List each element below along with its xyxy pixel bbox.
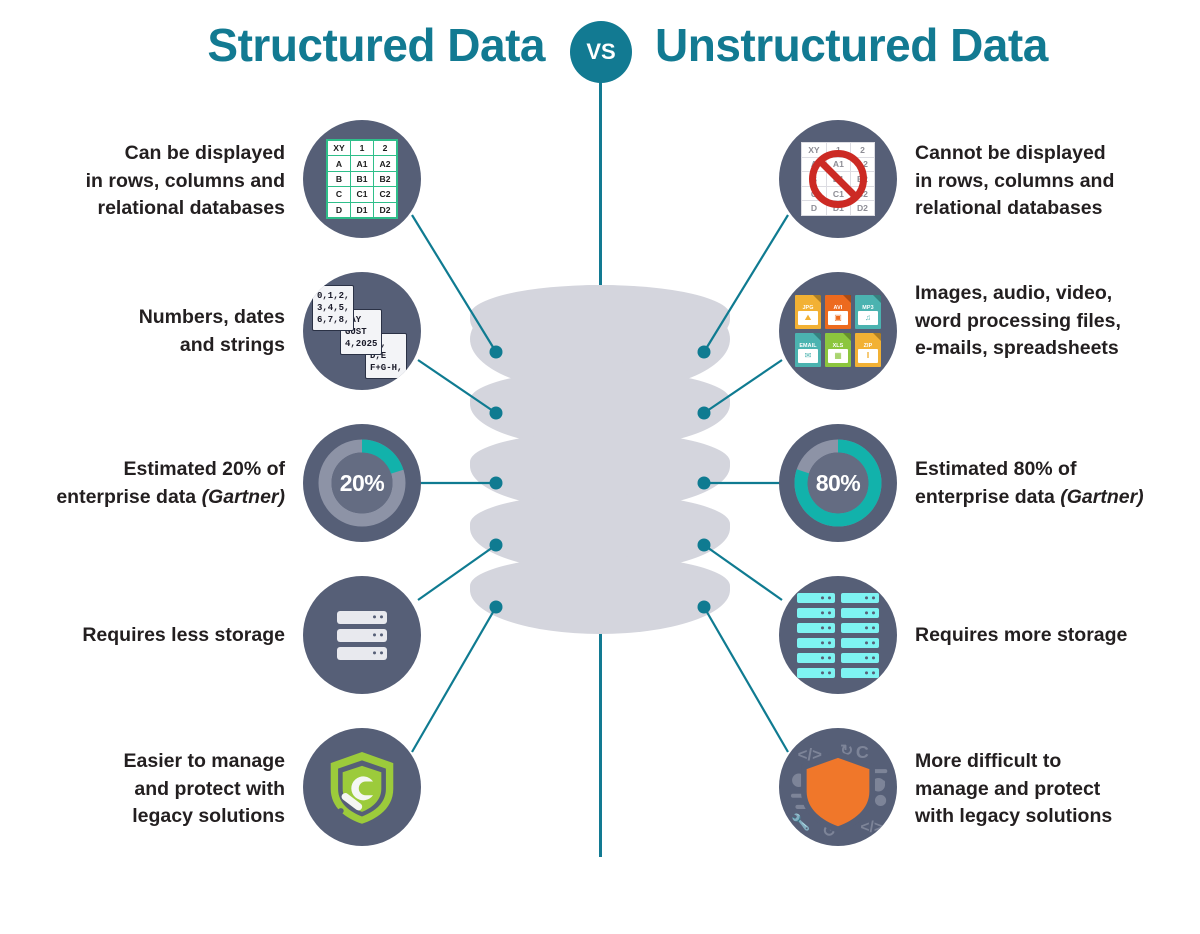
server-bar [841,623,879,633]
table-header-row: XY12 [327,140,397,156]
file-card-zip: ZIP‖ [855,333,881,367]
file-types-icon: JPG⛰AVI▣MP3♫EMAIL✉XLS▦ZIP‖ [779,272,897,390]
server-bar [797,593,835,603]
server-bar [841,608,879,618]
server-led-dot [872,596,875,599]
row-storage: Requires less storage Requires more stor… [0,576,1200,726]
numbers-card: 0,1,2,3,4,5,6,7,8, [312,285,354,331]
table-cell: D2 [374,202,398,218]
file-glyph-icon: ⛰ [798,311,818,325]
structured-table: XY12AA1A2BB1B2CC1C2DD1D2 [326,139,398,219]
svg-text:🔧: 🔧 [791,812,811,831]
file-card-avi: AVI▣ [825,295,851,329]
table-cell: B [327,171,351,186]
file-fold-corner [813,295,821,303]
row-label-right: Requires more storage [915,622,1190,650]
file-glyph-icon: ▣ [828,311,848,325]
server-led-dot [373,651,376,654]
table-grid-blocked-icon: XY12AA1A2BB1B2CC1C2DD1D2 [779,120,897,238]
row-label-left: Estimated 20% ofenterprise data (Gartner… [10,456,285,511]
row-label-right-main: Estimated 80% ofenterprise data [915,458,1076,508]
donut-chart-80-icon: 80% [779,424,897,542]
shield-wrench-icon [303,728,421,846]
server-led-dot [821,656,824,659]
server-bar [841,638,879,648]
file-fold-corner [813,333,821,341]
file-card-mp3: MP3♫ [855,295,881,329]
donut-80-label: 80% [790,435,886,531]
server-bar [841,668,879,678]
shield-code-icon: </> C ↻ </> ↺ 🔧 [779,728,897,846]
server-led-dot [872,671,875,674]
server-led-dot [373,633,376,636]
file-type-grid: JPG⛰AVI▣MP3♫EMAIL✉XLS▦ZIP‖ [795,295,881,367]
table-cell: A2 [374,156,398,171]
file-glyph-icon: ✉ [798,349,818,363]
server-stack-large [797,593,879,678]
row-label-left: Easier to manageand protect withlegacy s… [10,748,285,831]
table-cell: D [327,202,351,218]
table-row: BB1B2 [327,171,397,186]
vs-badge: VS [570,21,632,83]
row-management: Easier to manageand protect withlegacy s… [0,728,1200,878]
server-led-dot [821,596,824,599]
server-bar [841,593,879,603]
table-cell: D1 [351,202,374,218]
file-card-email: EMAIL✉ [795,333,821,367]
row-label-left: Can be displayedin rows, columns andrela… [10,140,285,223]
server-led-dot [865,596,868,599]
shield-wrench-svg [316,741,408,833]
server-led-dot [373,615,376,618]
server-bar [797,608,835,618]
server-bar [337,629,387,642]
server-led-dot [380,615,383,618]
server-led-dot [865,626,868,629]
file-glyph-icon: ♫ [858,311,878,325]
table-header-cell: 2 [374,140,398,156]
server-bar [797,653,835,663]
row-label-right: Images, audio, video,word processing fil… [915,280,1190,363]
server-bar [797,623,835,633]
table-cell: C [327,187,351,202]
server-led-dot [865,611,868,614]
file-card-xls: XLS▦ [825,333,851,367]
shield-code-svg: </> C ↻ </> ↺ 🔧 [782,731,894,843]
server-bar [337,611,387,624]
donut-chart-20-icon: 20% [303,424,421,542]
server-column [841,593,879,678]
server-bar [797,638,835,648]
table-grid-icon: XY12AA1A2BB1B2CC1C2DD1D2 [303,120,421,238]
server-led-dot [872,641,875,644]
data-cards: 0,1,2,3,4,5,6,7,8, DAYGUST4,2025 YZ,D,EF… [310,283,414,379]
server-led-dot [865,671,868,674]
server-led-dot [865,641,868,644]
donut-20-label: 20% [314,435,410,531]
table-cell: C1 [351,187,374,202]
page-title-structured: Structured Data [0,18,545,72]
row-label-left-source: (Gartner) [202,486,285,508]
file-fold-corner [843,333,851,341]
server-led-dot [828,671,831,674]
row-displayable: Can be displayedin rows, columns andrela… [0,120,1200,270]
server-led-dot [828,641,831,644]
table-row: DD1D2 [327,202,397,218]
file-glyph-icon: ▦ [828,349,848,363]
donut-20: 20% [314,435,410,531]
server-stack-small-icon [303,576,421,694]
row-label-right-source: (Gartner) [1060,486,1143,508]
file-card-jpg: JPG⛰ [795,295,821,329]
page-title-unstructured: Unstructured Data [655,18,1200,72]
table-row: CC1C2 [327,187,397,202]
server-bar [797,668,835,678]
row-label-right: Estimated 80% ofenterprise data (Gartner… [915,456,1190,511]
server-stack-small [337,611,387,660]
server-led-dot [828,596,831,599]
server-column [797,593,835,678]
server-stack-large-icon [779,576,897,694]
server-led-dot [821,611,824,614]
blocked-table-wrapper: XY12AA1A2BB1B2CC1C2DD1D2 [801,142,875,216]
row-data-types: Numbers, datesand strings 0,1,2,3,4,5,6,… [0,272,1200,422]
server-led-dot [865,656,868,659]
table-cell: A [327,156,351,171]
table-cell: B1 [351,171,374,186]
file-glyph-icon: ‖ [858,349,878,363]
row-label-right: More difficult tomanage and protectwith … [915,748,1190,831]
server-led-dot [821,626,824,629]
server-led-dot [872,626,875,629]
server-column [337,611,387,660]
server-bar [841,653,879,663]
server-led-dot [380,633,383,636]
server-led-dot [380,651,383,654]
donut-80: 80% [790,435,886,531]
row-label-right: Cannot be displayedin rows, columns andr… [915,140,1190,223]
server-led-dot [828,626,831,629]
server-bar [337,647,387,660]
server-led-dot [828,656,831,659]
table-header-cell: 1 [351,140,374,156]
table-cell: B2 [374,171,398,186]
server-led-dot [872,656,875,659]
server-led-dot [872,611,875,614]
server-led-dot [821,671,824,674]
table-cell: A1 [351,156,374,171]
table-row: AA1A2 [327,156,397,171]
server-led-dot [821,641,824,644]
svg-text:</>: </> [860,819,883,836]
row-label-left: Numbers, datesand strings [10,304,285,359]
row-label-left: Requires less storage [10,622,285,650]
table-header-cell: XY [327,140,351,156]
no-entry-icon [809,150,867,208]
table-cell: C2 [374,187,398,202]
server-led-dot [828,611,831,614]
row-percentage: Estimated 20% ofenterprise data (Gartner… [0,424,1200,574]
data-type-cards-icon: 0,1,2,3,4,5,6,7,8, DAYGUST4,2025 YZ,D,EF… [303,272,421,390]
structured-table-body: XY12AA1A2BB1B2CC1C2DD1D2 [327,140,397,218]
file-fold-corner [873,333,881,341]
file-fold-corner [873,295,881,303]
file-fold-corner [843,295,851,303]
